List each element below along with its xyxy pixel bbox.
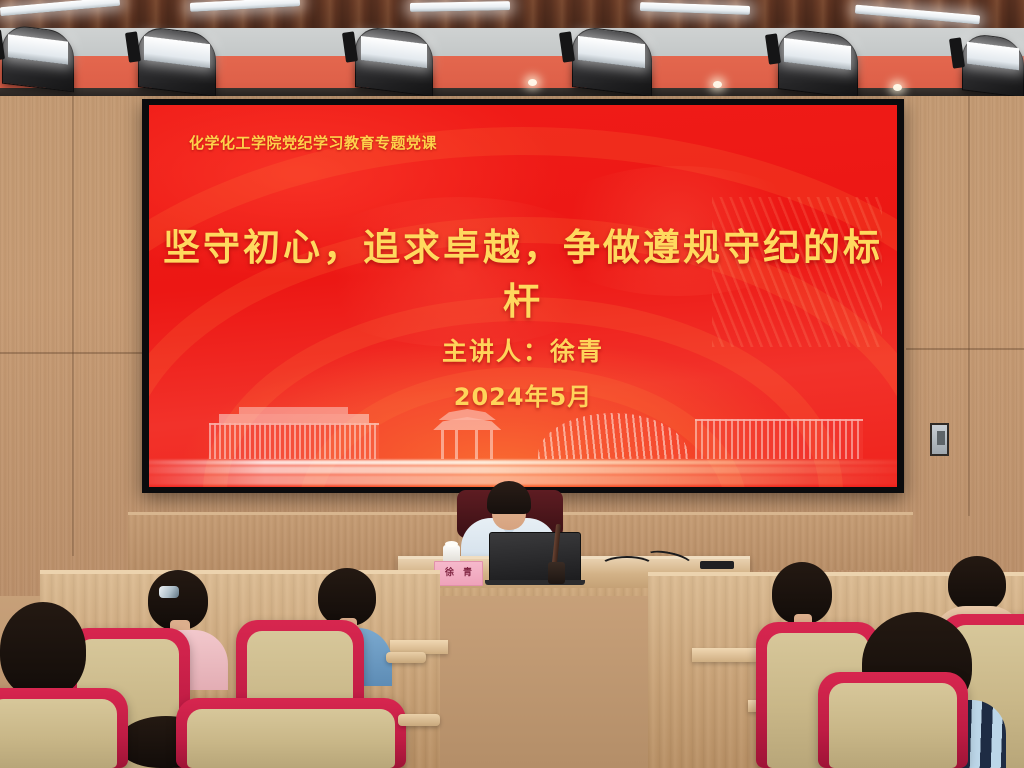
wall-seam: [906, 348, 1024, 350]
stage-light-fixture: [2, 28, 74, 88]
ceiling-downlight: [893, 84, 902, 91]
ceiling-light-tube: [410, 1, 510, 12]
light-streak: [149, 460, 897, 465]
lecture-hall-photo: 化学化工学院党纪学习教育专题党课 坚守初心，追求卓越，争做遵规守纪的标杆 主讲人…: [0, 0, 1024, 768]
light-streak: [149, 466, 897, 474]
slide-skyline-graphic: [149, 377, 897, 487]
wall-control-panel[interactable]: [930, 423, 949, 456]
wall-seam: [72, 96, 74, 556]
seat-armrest: [386, 652, 426, 663]
laptop-base: [485, 580, 585, 585]
led-screen-frame: 化学化工学院党纪学习教育专题党课 坚守初心，追求卓越，争做遵规守纪的标杆 主讲人…: [142, 99, 904, 493]
attendee-head: [0, 602, 86, 698]
nameplate-char-1: 徐: [445, 569, 454, 578]
light-streak: [149, 475, 897, 485]
desk-nameplate: 徐 青: [434, 561, 483, 586]
stadium-dome-icon: [538, 413, 688, 459]
stage-light-fixture: [138, 30, 216, 92]
presentation-remote[interactable]: [700, 561, 734, 569]
attendee-head: [948, 556, 1006, 612]
auditorium-seat[interactable]: [176, 698, 406, 768]
wall-seam: [0, 352, 142, 354]
desk-ledge: [692, 648, 756, 662]
ceiling-downlight: [528, 79, 537, 86]
stage-light-fixture: [572, 30, 652, 92]
great-hall-icon: [209, 407, 379, 459]
theatre-hall-icon: [695, 419, 863, 459]
slide-header-text: 化学化工学院党纪学习教育专题党课: [189, 132, 437, 153]
desk-microphone: [548, 524, 564, 584]
slide-main-title: 坚守初心，追求卓越，争做遵规守纪的标杆: [149, 217, 897, 325]
cable: [600, 556, 654, 576]
wall-seam: [968, 96, 970, 516]
pavilion-icon: [433, 409, 501, 459]
presentation-slide: 化学化工学院党纪学习教育专题党课 坚守初心，追求卓越，争做遵规守纪的标杆 主讲人…: [149, 105, 897, 487]
nameplate-char-2: 青: [463, 569, 472, 578]
stage-light-fixture: [778, 32, 858, 94]
auditorium-seat[interactable]: [0, 688, 128, 768]
slide-speaker-text: 主讲人：徐青: [149, 332, 897, 368]
seat-armrest: [398, 714, 440, 726]
auditorium-seat[interactable]: [818, 672, 968, 768]
hair-clip: [159, 586, 179, 598]
ceiling-downlight: [713, 81, 722, 88]
stage-light-fixture: [962, 36, 1024, 94]
laptop-screen[interactable]: [489, 532, 581, 582]
stage-light-fixture: [355, 30, 433, 92]
